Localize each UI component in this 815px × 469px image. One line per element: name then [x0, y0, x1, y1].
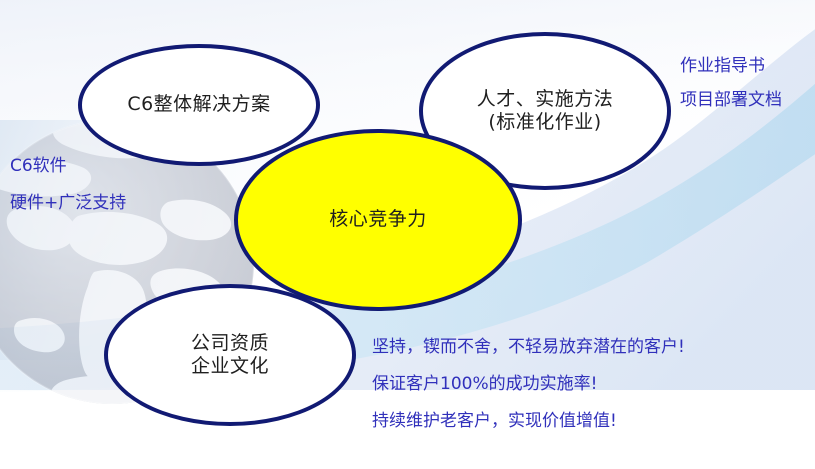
ellipse-culture[interactable]: 公司资质 企业文化: [104, 284, 356, 426]
ellipse-solution-label: C6整体解决方案: [127, 93, 270, 116]
annotation-bottom-right: 坚持，锲而不舍，不轻易放弃潜在的客户! 保证客户100%的成功实施率! 持续维护…: [372, 339, 685, 430]
ellipse-culture-label: 公司资质 企业文化: [191, 332, 269, 378]
slide-canvas: C6整体解决方案 人才、实施方法 (标准化作业) 公司资质 企业文化 核心竞争力…: [0, 0, 815, 469]
annotation-left-line-2: 硬件+广泛支持: [10, 195, 126, 212]
annotation-bottom-right-line-3: 持续维护老客户，实现价值增值!: [372, 413, 685, 430]
ellipse-solution[interactable]: C6整体解决方案: [78, 44, 320, 166]
ellipse-core-competence[interactable]: 核心竞争力: [234, 129, 522, 311]
annotation-left-line-1: C6软件: [10, 158, 126, 175]
annotation-top-right-line-2: 项目部署文档: [680, 92, 782, 109]
annotation-top-right: 作业指导书 项目部署文档: [680, 58, 782, 109]
annotation-top-right-line-1: 作业指导书: [680, 58, 782, 75]
annotation-bottom-right-line-2: 保证客户100%的成功实施率!: [372, 376, 685, 393]
ellipse-core-competence-label: 核心竞争力: [329, 208, 427, 231]
ellipse-talent-label: 人才、实施方法 (标准化作业): [477, 88, 614, 134]
annotation-bottom-right-line-1: 坚持，锲而不舍，不轻易放弃潜在的客户!: [372, 339, 685, 356]
annotation-left: C6软件 硬件+广泛支持: [10, 158, 126, 212]
